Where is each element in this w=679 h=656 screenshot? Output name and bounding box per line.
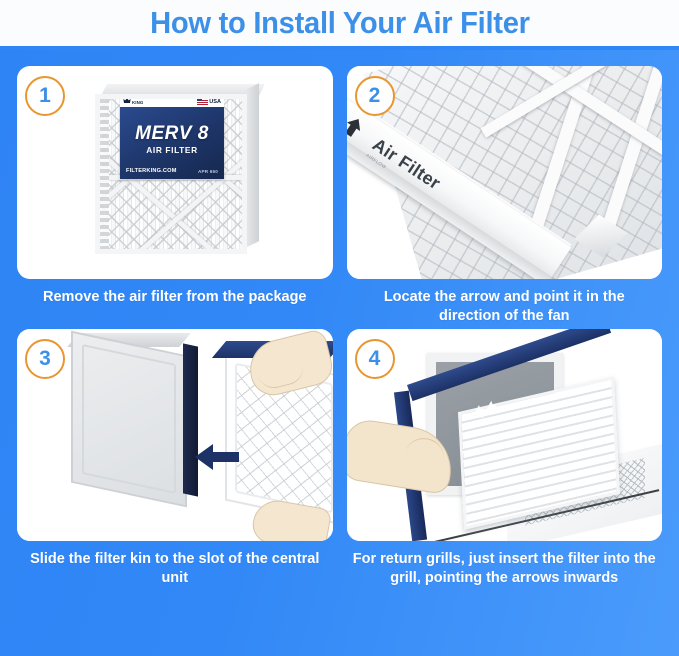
step-card-3: 3 Slide the filter kin to the slot of th…: [17, 329, 333, 587]
step-number-badge-4: 4: [355, 339, 395, 379]
origin-text: MADE IN USA: [209, 97, 221, 105]
airflow-direction-arrow-icon: [347, 115, 366, 141]
merv-rating: MERV 8: [120, 123, 224, 145]
slide-direction-arrow-icon: [195, 441, 239, 473]
filter-face: FILTER KING MADE IN USA: [95, 94, 247, 254]
steps-grid: 1: [0, 50, 679, 587]
step-card-1: 1: [17, 66, 333, 325]
us-flag-icon: [197, 98, 208, 105]
product-label-footer: FILTERKING.COM APR 650: [126, 168, 218, 174]
step-number-badge-1: 1: [25, 76, 65, 116]
filter-left-edge-texture: [100, 99, 109, 249]
product-label: FILTER KING MADE IN USA: [120, 107, 224, 179]
brand-line-2: KING: [132, 101, 148, 106]
header-banner: How to Install Your Air Filter: [0, 0, 679, 46]
central-unit-housing: [71, 331, 187, 508]
filter-king-logo: FILTER KING: [123, 96, 148, 105]
apr-code: APR 650: [198, 169, 218, 174]
step-2-caption: Locate the arrow and point it in the dir…: [347, 279, 663, 325]
step-3-caption: Slide the filter kin to the slot of the …: [17, 541, 333, 587]
brand-name: FILTER KING: [132, 96, 148, 105]
step-4-caption: For return grills, just insert the filte…: [347, 541, 663, 587]
step-2-illustration-card: 2 Air Filter AIRFLOW: [347, 66, 663, 279]
central-unit-slot: [183, 343, 198, 496]
made-in-usa-badge: MADE IN USA: [197, 97, 221, 105]
product-type-label: AIR FILTER: [120, 145, 224, 155]
step-card-4: 4 For return grills, just insert: [347, 329, 663, 587]
step-1-illustration-card: 1: [17, 66, 333, 279]
step-number-badge-3: 3: [25, 339, 65, 379]
filter-side-edge: [247, 83, 259, 247]
step-card-2: 2 Air Filter AIRFLOW: [347, 66, 663, 325]
origin-country: USA: [209, 99, 221, 105]
step-3-illustration-card: 3: [17, 329, 333, 541]
step-1-caption: Remove the air filter from the package: [17, 279, 333, 307]
step-number-badge-2: 2: [355, 76, 395, 116]
crown-icon: [123, 97, 131, 105]
air-filter-product: FILTER KING MADE IN USA: [95, 84, 259, 254]
page-title: How to Install Your Air Filter: [150, 5, 530, 41]
brand-website: FILTERKING.COM: [126, 168, 177, 174]
product-label-header: FILTER KING MADE IN USA: [120, 95, 224, 107]
step-4-illustration-card: 4: [347, 329, 663, 541]
